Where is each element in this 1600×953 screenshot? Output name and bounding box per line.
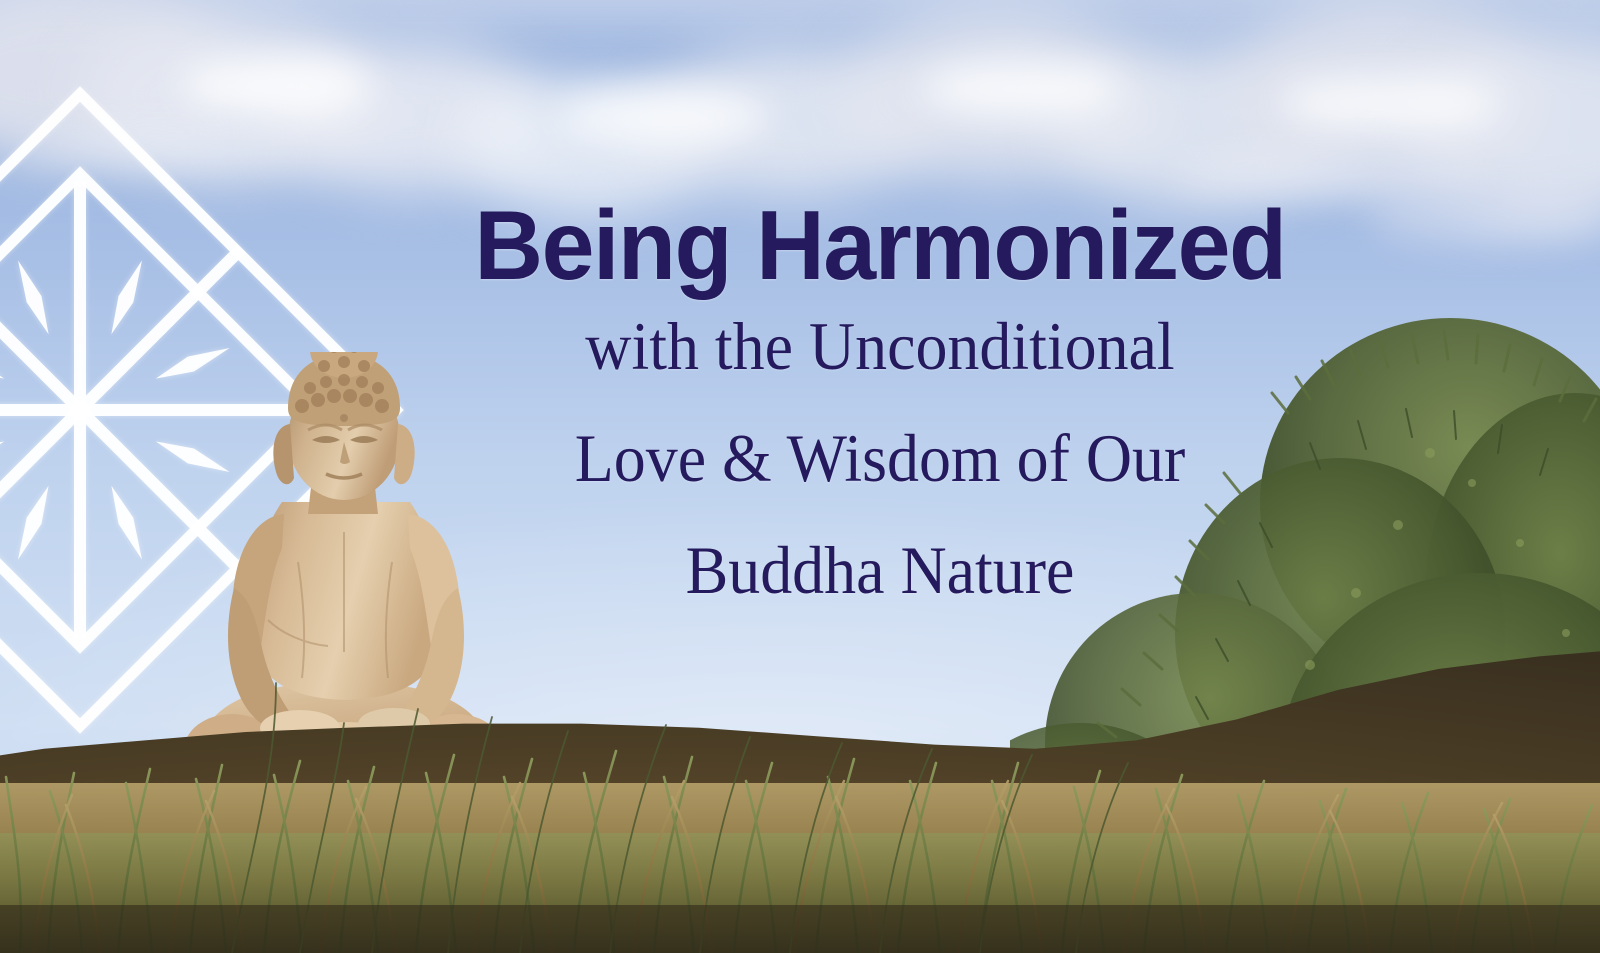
page-title: Being Harmonized: [347, 196, 1414, 294]
subtitle-line-2: Love & Wisdom of Our: [363, 424, 1397, 492]
subtitle-line-3: Buddha Nature: [363, 536, 1397, 604]
subtitle-line-1: with the Unconditional: [363, 312, 1397, 380]
headline-block: Being Harmonized with the Unconditional …: [330, 196, 1430, 604]
banner-image: Being Harmonized with the Unconditional …: [0, 0, 1600, 953]
